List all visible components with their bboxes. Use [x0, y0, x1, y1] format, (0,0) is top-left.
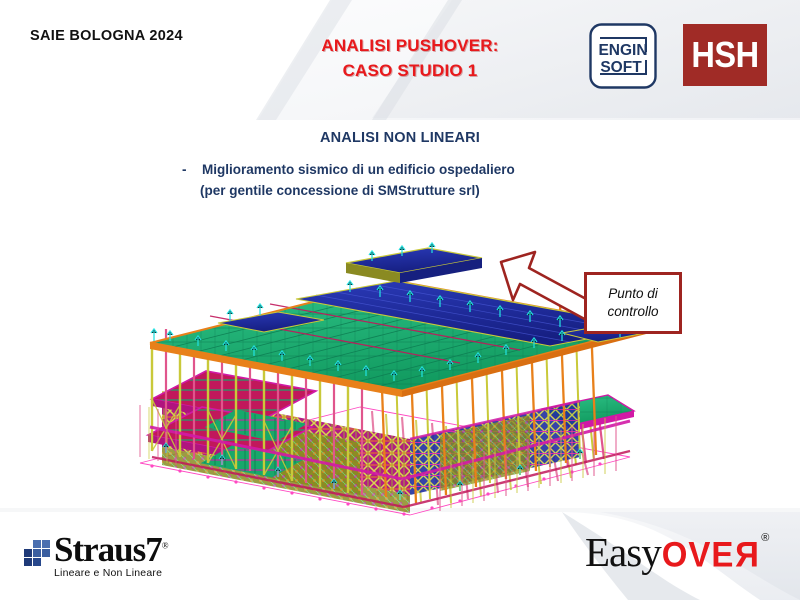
hsh-logo: HSH: [683, 24, 767, 86]
straus7-registered-mark: ®: [162, 540, 168, 550]
enginsoft-text-line1: ENGIN: [598, 42, 647, 59]
control-point-callout: Punto di controllo: [584, 272, 682, 334]
enginsoft-logo: ENGIN SOFT: [588, 22, 658, 90]
straus7-text-block: Straus7® Lineare e Non Lineare: [54, 533, 168, 579]
slide-title-line1: ANALISI PUSHOVER:: [321, 36, 498, 55]
straus7-grid-icon: [22, 539, 52, 569]
slide-title: ANALISI PUSHOVER: CASO STUDIO 1: [270, 34, 550, 83]
section-heading: ANALISI NON LINEARI: [0, 130, 800, 146]
slide-title-line2: CASO STUDIO 1: [270, 59, 550, 84]
enginsoft-text-line2: SOFT: [600, 59, 642, 76]
fe-model-graphic: [110, 195, 710, 525]
callout-line2: controllo: [607, 303, 658, 321]
enginsoft-logo-mark: ENGIN SOFT: [588, 22, 658, 90]
easyover-over-text: OVER: [662, 537, 760, 572]
hsh-logo-text: HSH: [691, 34, 758, 76]
callout-line1: Punto di: [608, 285, 658, 303]
straus7-logo: Straus7® Lineare e Non Lineare: [22, 533, 168, 579]
presentation-slide: SAIE BOLOGNA 2024 ANALISI PUSHOVER: CASO…: [0, 0, 800, 600]
bullet-marker: -: [182, 160, 190, 181]
event-label: SAIE BOLOGNA 2024: [30, 28, 183, 44]
list-item: - Miglioramento sismico di un edificio o…: [182, 160, 515, 202]
straus7-name: Straus7®: [54, 533, 168, 566]
bullet-text: Miglioramento sismico di un edificio osp…: [202, 160, 515, 202]
easyover-over-flipped-r: R: [734, 537, 759, 572]
straus7-tagline: Lineare e Non Lineare: [54, 567, 168, 579]
easyover-over-first: OVE: [662, 535, 735, 574]
bullet-list: - Miglioramento sismico di un edificio o…: [182, 160, 515, 202]
easyover-easy-text: Easy: [585, 532, 661, 573]
bullet-text-line2: (per gentile concessione di SMStrutture …: [200, 181, 515, 202]
straus7-name-text: Straus7: [54, 530, 162, 569]
bullet-text-line1: Miglioramento sismico di un edificio osp…: [202, 162, 515, 177]
easyover-registered-mark: ®: [761, 532, 769, 544]
easyover-logo: Easy OVER ®: [585, 532, 769, 573]
fe-model-image: [110, 195, 710, 525]
